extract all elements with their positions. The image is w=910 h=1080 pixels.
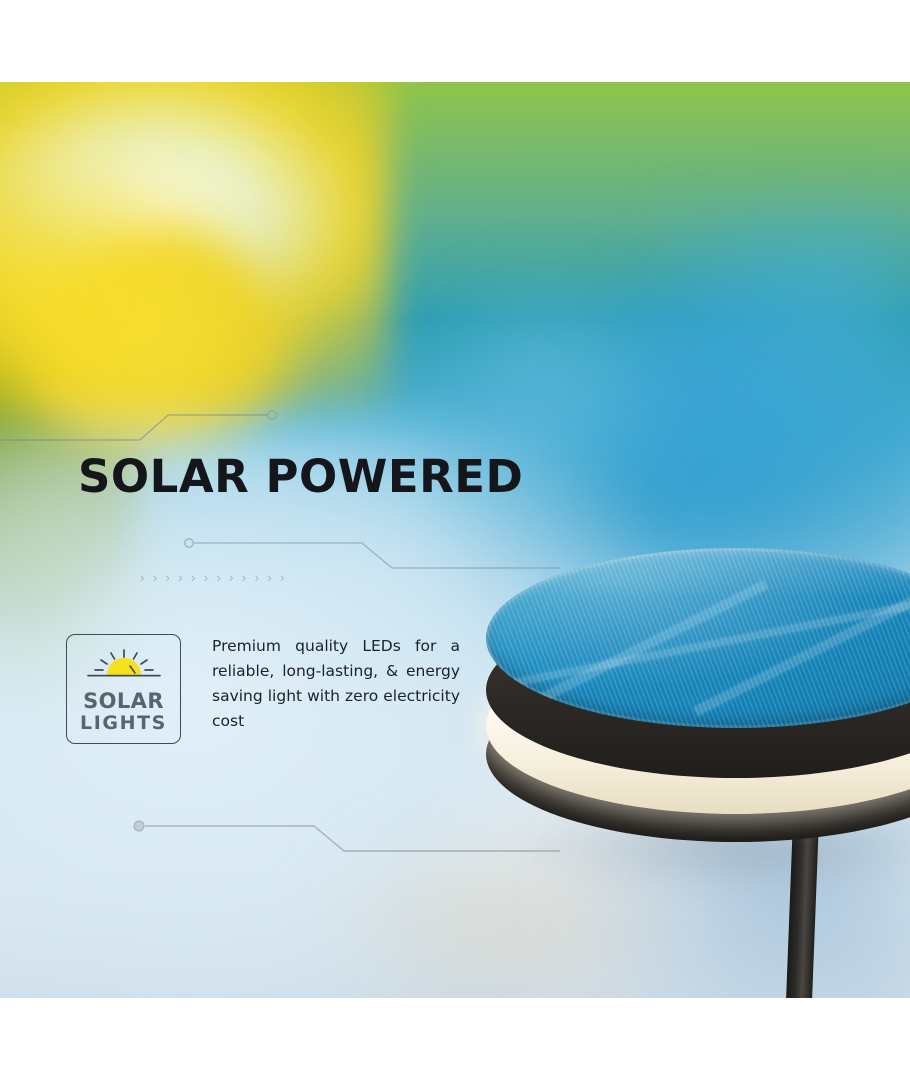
product-feature-banner: › › › › › › › › › › › › SOLAR POWERED — [0, 0, 910, 1080]
feature-description: Premium quality LEDs for a reliable, lon… — [212, 634, 460, 734]
badge-label-solar: SOLAR — [83, 690, 164, 712]
product-solar-panel — [486, 548, 910, 728]
chevron-row-icon: › › › › › › › › › › › › — [140, 570, 287, 585]
sunrise-icon — [85, 649, 163, 683]
solar-lights-badge: SOLAR LIGHTS — [66, 634, 181, 744]
background-sun-flare-secondary — [0, 142, 260, 442]
badge-label-lights: LIGHTS — [80, 714, 167, 734]
background-photo: › › › › › › › › › › › › SOLAR POWERED — [0, 82, 910, 998]
product-solar-light — [470, 452, 910, 998]
feature-description-text: Premium quality LEDs for a reliable, lon… — [212, 637, 460, 730]
feature-block: SOLAR LIGHTS Premium quality LEDs for a … — [66, 634, 466, 744]
page-title: SOLAR POWERED — [78, 454, 523, 499]
